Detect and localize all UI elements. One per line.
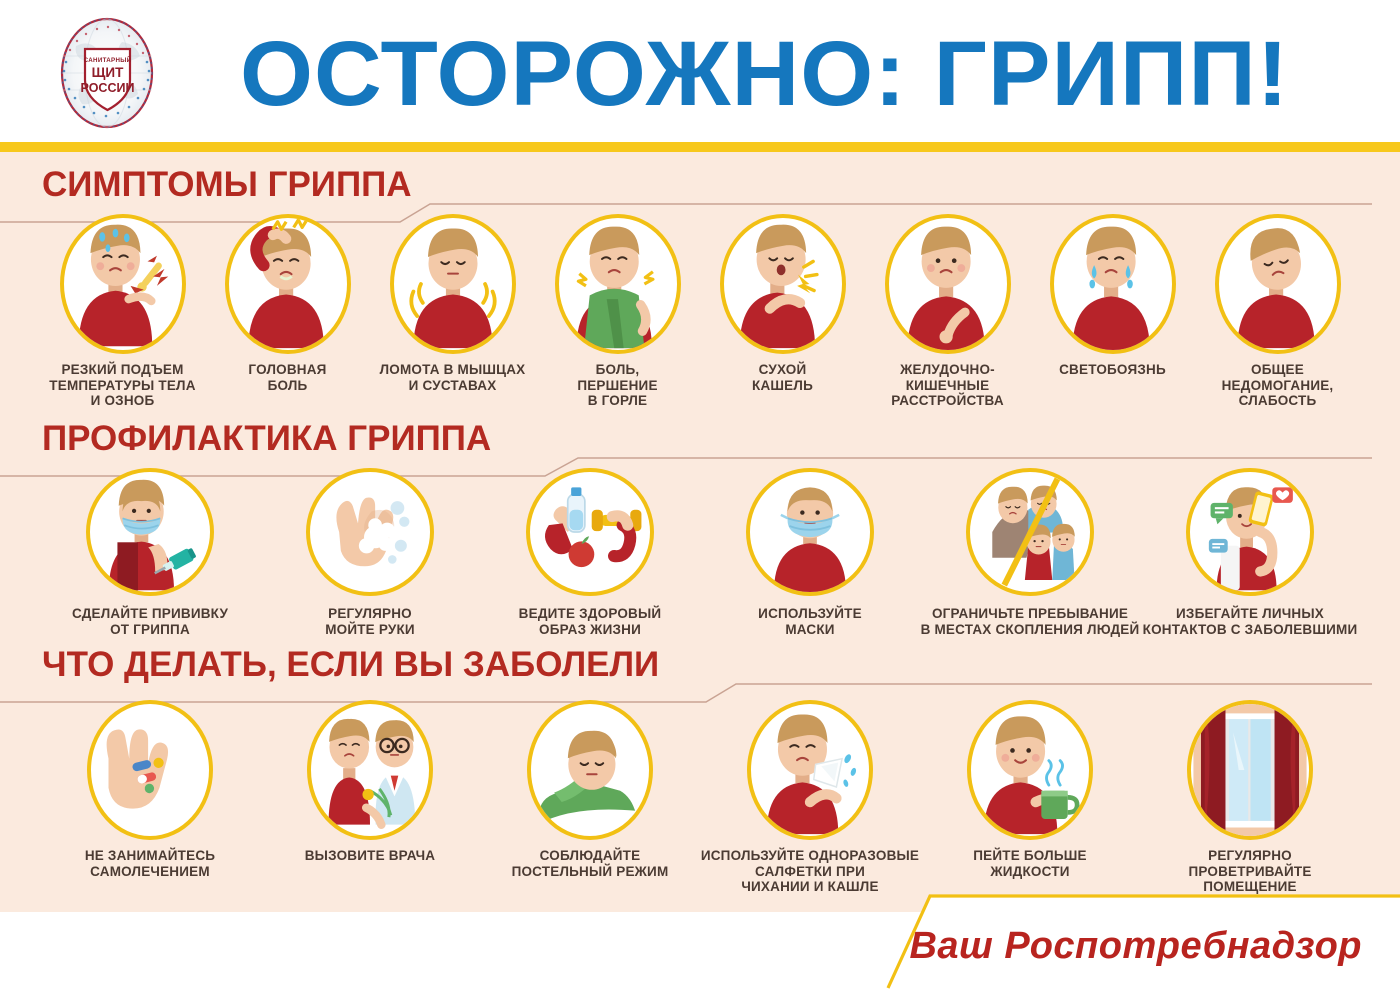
stomach-ache-icon — [885, 214, 1011, 354]
bed-rest-icon — [527, 700, 653, 840]
call-doctor-icon — [307, 700, 433, 840]
header-yellow-divider — [0, 142, 1400, 152]
no-self-medication-pills-icon — [87, 700, 213, 840]
info-card-dry-cough: СУХОЙ КАШЕЛЬ — [700, 214, 865, 393]
ventilate-window-icon — [1187, 700, 1313, 840]
body-aches-icon — [390, 214, 516, 354]
card-caption: ОГРАНИЧЬТЕ ПРЕБЫВАНИЕ В МЕСТАХ СКОПЛЕНИЯ… — [920, 606, 1140, 637]
photophobia-tears-icon — [1050, 214, 1176, 354]
info-card-body-aches: ЛОМОТА В МЫШЦАХ И СУСТАВАХ — [370, 214, 535, 393]
info-card-photophobia-tears: СВЕТОБОЯЗНЬ — [1030, 214, 1195, 378]
card-caption: ЛОМОТА В МЫШЦАХ И СУСТАВАХ — [370, 362, 535, 393]
info-card-avoid-contact-phone: ИЗБЕГАЙТЕ ЛИЧНЫХ КОНТАКТОВ С ЗАБОЛЕВШИМИ — [1140, 468, 1360, 637]
card-caption: СОБЛЮДАЙТЕ ПОСТЕЛЬНЫЙ РЕЖИМ — [480, 848, 700, 879]
card-caption: РЕЗКИЙ ПОДЪЕМ ТЕМПЕРАТУРЫ ТЕЛА И ОЗНОБ — [40, 362, 205, 409]
card-caption: ГОЛОВНАЯ БОЛЬ — [205, 362, 370, 393]
card-caption: СВЕТОБОЯЗНЬ — [1030, 362, 1195, 378]
info-card-wash-hands-soap: РЕГУЛЯРНО МОЙТЕ РУКИ — [260, 468, 480, 637]
card-caption: СДЕЛАЙТЕ ПРИВИВКУ ОТ ГРИППА — [40, 606, 260, 637]
card-caption: СУХОЙ КАШЕЛЬ — [700, 362, 865, 393]
card-caption: ВЕДИТЕ ЗДОРОВЫЙ ОБРАЗ ЖИЗНИ — [480, 606, 700, 637]
weakness-icon — [1215, 214, 1341, 354]
card-caption: ОБЩЕЕ НЕДОМОГАНИЕ, СЛАБОСТЬ — [1195, 362, 1360, 409]
logo-line2: ЩИТ — [92, 65, 124, 80]
poster-header: САНИТАРНЫЙ ЩИТ РОССИИ ОСТОРОЖНО: ГРИПП! — [0, 0, 1400, 148]
face-mask-icon — [746, 468, 874, 596]
flu-awareness-poster: САНИТАРНЫЙ ЩИТ РОССИИ ОСТОРОЖНО: ГРИПП! … — [0, 0, 1400, 990]
avoid-contact-phone-icon — [1186, 468, 1314, 596]
section-heading-prevention: ПРОФИЛАКТИКА ГРИППА — [42, 420, 491, 458]
card-caption: РЕГУЛЯРНО МОЙТЕ РУКИ — [260, 606, 480, 637]
wash-hands-soap-icon — [306, 468, 434, 596]
avoid-crowds-icon — [966, 468, 1094, 596]
logo-line1: САНИТАРНЫЙ — [84, 56, 132, 64]
logo-line3: РОССИИ — [81, 81, 135, 95]
card-caption: ЖЕЛУДОЧНО- КИШЕЧНЫЕ РАССТРОЙСТВА — [865, 362, 1030, 409]
vaccination-syringe-icon — [86, 468, 214, 596]
card-caption: ИЗБЕГАЙТЕ ЛИЧНЫХ КОНТАКТОВ С ЗАБОЛЕВШИМИ — [1140, 606, 1360, 637]
info-card-fever-thermometer: РЕЗКИЙ ПОДЪЕМ ТЕМПЕРАТУРЫ ТЕЛА И ОЗНОБ — [40, 214, 205, 409]
page-title: ОСТОРОЖНО: ГРИПП! — [240, 18, 1382, 130]
info-card-face-mask: ИСПОЛЬЗУЙТЕ МАСКИ — [700, 468, 920, 637]
poster-body: СИМПТОМЫ ГРИППА РЕЗКИЙ ПОДЪЕМ ТЕМПЕРАТУР… — [0, 152, 1400, 990]
info-card-headache: ГОЛОВНАЯ БОЛЬ — [205, 214, 370, 393]
info-card-no-self-medication-pills: НЕ ЗАНИМАЙТЕСЬ САМОЛЕЧЕНИЕМ — [40, 700, 260, 879]
card-caption: НЕ ЗАНИМАЙТЕСЬ САМОЛЕЧЕНИЕМ — [40, 848, 260, 879]
info-card-bed-rest: СОБЛЮДАЙТЕ ПОСТЕЛЬНЫЙ РЕЖИМ — [480, 700, 700, 879]
dry-cough-icon — [720, 214, 846, 354]
headache-icon — [225, 214, 351, 354]
card-caption: РЕГУЛЯРНО ПРОВЕТРИВАЙТЕ ПОМЕЩЕНИЕ — [1140, 848, 1360, 895]
healthy-lifestyle-icon — [526, 468, 654, 596]
info-card-ventilate-window: РЕГУЛЯРНО ПРОВЕТРИВАЙТЕ ПОМЕЩЕНИЕ — [1140, 700, 1360, 895]
tissue-sneeze-icon — [747, 700, 873, 840]
drink-fluids-mug-icon — [967, 700, 1093, 840]
section-heading-if-sick: ЧТО ДЕЛАТЬ, ЕСЛИ ВЫ ЗАБОЛЕЛИ — [42, 646, 659, 684]
info-card-weakness: ОБЩЕЕ НЕДОМОГАНИЕ, СЛАБОСТЬ — [1195, 214, 1360, 409]
info-card-healthy-lifestyle: ВЕДИТЕ ЗДОРОВЫЙ ОБРАЗ ЖИЗНИ — [480, 468, 700, 637]
section-heading-symptoms: СИМПТОМЫ ГРИППА — [42, 166, 412, 204]
info-card-avoid-crowds: ОГРАНИЧЬТЕ ПРЕБЫВАНИЕ В МЕСТАХ СКОПЛЕНИЯ… — [920, 468, 1140, 637]
card-caption: БОЛЬ, ПЕРШЕНИЕ В ГОРЛЕ — [535, 362, 700, 409]
info-card-vaccination-syringe: СДЕЛАЙТЕ ПРИВИВКУ ОТ ГРИППА — [40, 468, 260, 637]
card-caption: ВЫЗОВИТЕ ВРАЧА — [260, 848, 480, 864]
card-caption: ПЕЙТЕ БОЛЬШЕ ЖИДКОСТИ — [920, 848, 1140, 879]
fever-thermometer-icon — [60, 214, 186, 354]
card-caption: ИСПОЛЬЗУЙТЕ ОДНОРАЗОВЫЕ САЛФЕТКИ ПРИ ЧИХ… — [700, 848, 920, 895]
info-card-drink-fluids-mug: ПЕЙТЕ БОЛЬШЕ ЖИДКОСТИ — [920, 700, 1140, 879]
info-card-stomach-ache: ЖЕЛУДОЧНО- КИШЕЧНЫЕ РАССТРОЙСТВА — [865, 214, 1030, 409]
info-card-tissue-sneeze: ИСПОЛЬЗУЙТЕ ОДНОРАЗОВЫЕ САЛФЕТКИ ПРИ ЧИХ… — [700, 700, 920, 895]
sanitary-shield-logo: САНИТАРНЫЙ ЩИТ РОССИИ — [46, 16, 168, 131]
sore-throat-icon — [555, 214, 681, 354]
info-card-sore-throat: БОЛЬ, ПЕРШЕНИЕ В ГОРЛЕ — [535, 214, 700, 409]
info-card-call-doctor: ВЫЗОВИТЕ ВРАЧА — [260, 700, 480, 864]
card-caption: ИСПОЛЬЗУЙТЕ МАСКИ — [700, 606, 920, 637]
footer-brand-text: Ваш Роспотребнадзор — [909, 925, 1362, 968]
